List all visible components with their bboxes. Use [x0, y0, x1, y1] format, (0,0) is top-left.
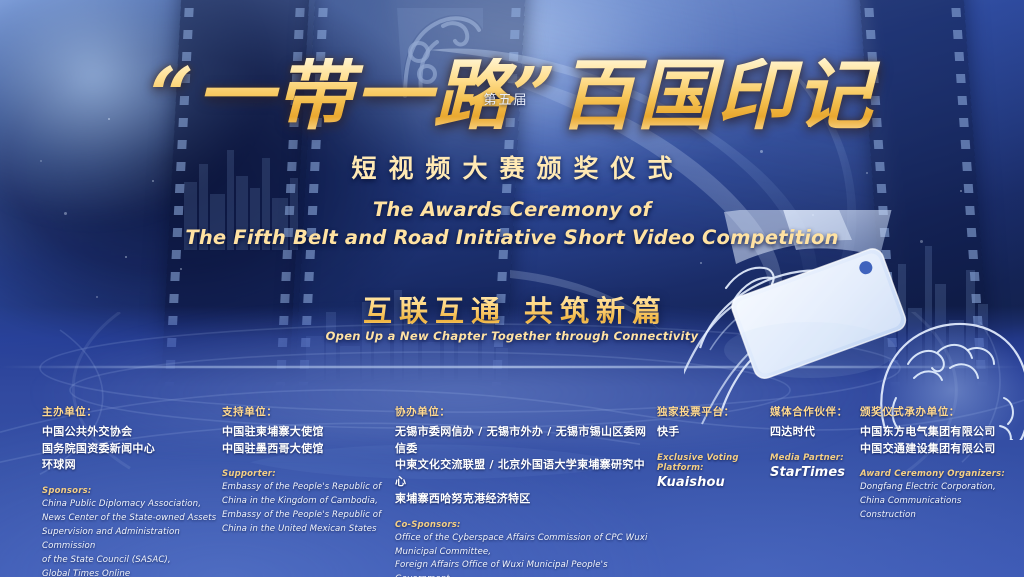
- credit-list-en: Embassy of the People's Republic ofChina…: [222, 481, 392, 537]
- credit-heading-en: Supporter:: [222, 469, 392, 479]
- credit-line-cn: 中柬文化交流联盟 / 北京外国语大学柬埔寨研究中心: [395, 457, 650, 490]
- edition-badge: 第五届: [483, 89, 528, 108]
- credit-heading-en: Award Ceremony Organizers:: [860, 469, 1020, 479]
- credit-line-en: Office of the Cyberspace Affairs Commiss…: [395, 532, 650, 546]
- credit-list-cn: 快手: [657, 424, 767, 441]
- credit-heading-en: Media Partner:: [770, 453, 855, 463]
- credit-line-en: Global Times Online: [42, 568, 227, 577]
- credit-heading-en: Sponsors:: [42, 486, 227, 496]
- credit-spacer: [222, 457, 392, 469]
- slogan-en: Open Up a New Chapter Together through C…: [0, 329, 1024, 343]
- credit-line-cn: 四达时代: [770, 424, 855, 441]
- credit-line-cn: 快手: [657, 424, 767, 441]
- credit-line-en: Embassy of the People's Republic of: [222, 481, 392, 495]
- credit-line-cn: 国务院国资委新闻中心: [42, 441, 227, 458]
- title-block: 第五届 “一带一路”百国印记 短视频大赛颁奖仪式 The Awards Cere…: [0, 58, 1024, 251]
- credit-heading-cn: 颁奖仪式承办单位：: [860, 404, 1020, 419]
- credit-column: 主办单位：中国公共外交协会国务院国资委新闻中心环球网Sponsors:China…: [42, 404, 227, 577]
- credit-line-en: Dongfang Electric Corporation,: [860, 481, 1020, 495]
- credit-list-cn: 中国东方电气集团有限公司中国交通建设集团有限公司: [860, 424, 1020, 457]
- credit-spacer: [42, 474, 227, 486]
- subtitle-cn: 短视频大赛颁奖仪式: [0, 149, 1024, 185]
- credit-line-en: China in the United Mexican States: [222, 523, 392, 537]
- credit-line-en: News Center of the State-owned Assets: [42, 512, 227, 526]
- credit-line-cn: 中国驻墨西哥大使馆: [222, 441, 392, 458]
- credit-list-en: China Public Diplomacy Association,News …: [42, 498, 227, 577]
- credit-line-en: StarTimes: [770, 465, 855, 482]
- subtitle-en-line-2: The Fifth Belt and Road Initiative Short…: [0, 224, 1024, 252]
- credit-column: 支持单位：中国驻柬埔寨大使馆中国驻墨西哥大使馆Supporter:Embassy…: [222, 404, 392, 537]
- credit-heading-en: Co-Sponsors:: [395, 520, 650, 530]
- credit-line-en: of the State Council (SASAC),: [42, 554, 227, 568]
- credit-line-cn: 柬埔寨西哈努克港经济特区: [395, 491, 650, 508]
- credit-line-en: Embassy of the People's Republic of: [222, 509, 392, 523]
- credit-heading-cn: 媒体合作伙伴：: [770, 404, 855, 419]
- credit-line-en: China Public Diplomacy Association,: [42, 498, 227, 512]
- subtitle-en: The Awards Ceremony of The Fifth Belt an…: [0, 196, 1024, 251]
- credit-heading-cn: 支持单位：: [222, 404, 392, 419]
- credit-heading-cn: 协办单位：: [395, 404, 650, 419]
- credit-list-cn: 中国公共外交协会国务院国资委新闻中心环球网: [42, 424, 227, 474]
- credit-column: 协办单位：无锡市委网信办 / 无锡市外办 / 无锡市锡山区委网信委中柬文化交流联…: [395, 404, 650, 577]
- credit-line-en: China Communications Construction: [860, 495, 1020, 523]
- credit-list-cn: 四达时代: [770, 424, 855, 441]
- credit-line-en: Foreign Affairs Office of Wuxi Municipal…: [395, 559, 650, 577]
- credit-spacer: [395, 508, 650, 520]
- credit-line-cn: 无锡市委网信办 / 无锡市外办 / 无锡市锡山区委网信委: [395, 424, 650, 457]
- credits-section: 主办单位：中国公共外交协会国务院国资委新闻中心环球网Sponsors:China…: [0, 404, 1024, 577]
- credit-list-en: Dongfang Electric Corporation,China Comm…: [860, 481, 1020, 523]
- subtitle-en-line-1: The Awards Ceremony of: [0, 196, 1024, 224]
- credit-column: 颁奖仪式承办单位：中国东方电气集团有限公司中国交通建设集团有限公司Award C…: [860, 404, 1020, 523]
- credit-line-en: Municipal Committee,: [395, 546, 650, 560]
- poster-canvas: 第五届 “一带一路”百国印记 短视频大赛颁奖仪式 The Awards Cere…: [0, 0, 1024, 577]
- credit-list-en: Office of the Cyberspace Affairs Commiss…: [395, 532, 650, 577]
- credit-spacer: [770, 441, 855, 453]
- credit-heading-cn: 独家投票平台：: [657, 404, 767, 419]
- credit-line-cn: 中国驻柬埔寨大使馆: [222, 424, 392, 441]
- credit-line-en: China in the Kingdom of Cambodia,: [222, 495, 392, 509]
- credit-line-cn: 环球网: [42, 457, 227, 474]
- credit-line-cn: 中国交通建设集团有限公司: [860, 441, 1020, 458]
- slogan-cn: 互联互通 共筑新篇: [0, 288, 1024, 330]
- credit-line-cn: 中国东方电气集团有限公司: [860, 424, 1020, 441]
- credit-column: 媒体合作伙伴：四达时代Media Partner:StarTimes: [770, 404, 855, 482]
- credit-list-cn: 中国驻柬埔寨大使馆中国驻墨西哥大使馆: [222, 424, 392, 457]
- credit-list-cn: 无锡市委网信办 / 无锡市外办 / 无锡市锡山区委网信委中柬文化交流联盟 / 北…: [395, 424, 650, 508]
- credit-list-en: Kuaishou: [657, 475, 767, 492]
- credit-column: 独家投票平台：快手Exclusive Voting Platform:Kuais…: [657, 404, 767, 492]
- credit-line-cn: 中国公共外交协会: [42, 424, 227, 441]
- credit-spacer: [860, 457, 1020, 469]
- credit-heading-cn: 主办单位：: [42, 404, 227, 419]
- credit-line-en: Supervision and Administration Commissio…: [42, 526, 227, 554]
- credit-line-en: Kuaishou: [657, 475, 767, 492]
- credit-spacer: [657, 441, 767, 453]
- credit-heading-en: Exclusive Voting Platform:: [657, 453, 767, 473]
- credit-list-en: StarTimes: [770, 465, 855, 482]
